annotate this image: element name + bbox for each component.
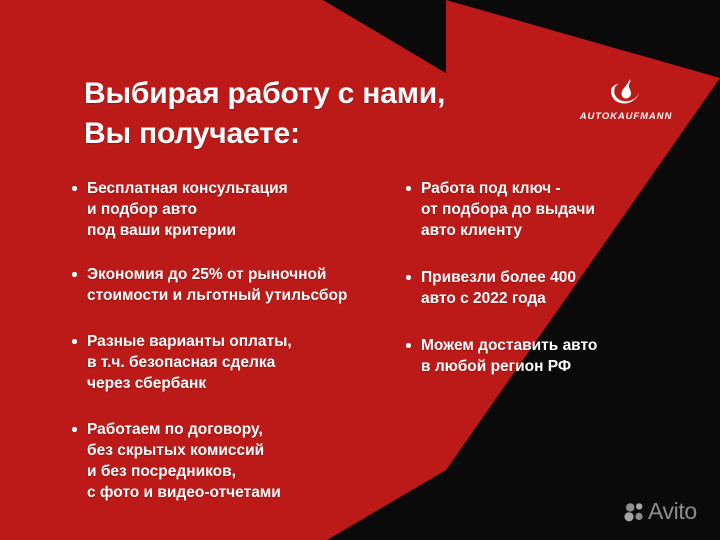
list-item-line: под ваши критерии	[87, 220, 410, 241]
list-item-line: Разные варианты оплаты,	[87, 331, 410, 352]
list-item-line: Работа под ключ -	[421, 178, 704, 199]
brand-name: AUTOKAUFMANN	[578, 111, 674, 122]
list-item-line: Экономия до 25% от рыночной	[87, 264, 410, 285]
page-title: Выбирая работу с нами, Вы получаете:	[84, 74, 554, 154]
benefits-columns: Бесплатная консультация и подбор авто по…	[0, 178, 720, 508]
list-item-line: и подбор авто	[87, 199, 410, 220]
avito-watermark: Avito	[624, 500, 697, 523]
list-item-line: в любой регион РФ	[421, 356, 704, 377]
list-item: Экономия до 25% от рыночной стоимости и …	[70, 264, 410, 306]
bullet-dot-icon	[72, 272, 77, 277]
list-item-line: стоимости и льготный утильсбор	[87, 285, 410, 306]
list-item: Бесплатная консультация и подбор авто по…	[70, 178, 410, 241]
list-item: Можем доставить авто в любой регион РФ	[404, 335, 704, 377]
list-item: Разные варианты оплаты, в т.ч. безопасна…	[70, 331, 410, 394]
list-item-text: Можем доставить авто в любой регион РФ	[421, 335, 704, 377]
list-item-line: от подбора до выдачи	[421, 199, 704, 220]
flame-swoosh-icon	[609, 78, 643, 108]
bullet-dot-icon	[72, 427, 77, 432]
page-title-line-2: Вы получаете:	[84, 114, 554, 154]
list-item: Привезли более 400 авто с 2022 года	[404, 267, 704, 309]
list-item-line: авто клиенту	[421, 220, 704, 241]
bullet-dot-icon	[406, 343, 411, 348]
list-item-line: Привезли более 400	[421, 267, 704, 288]
list-item-text: Работаем по договору, без скрытых комисс…	[87, 419, 410, 503]
list-item-line: через сбербанк	[87, 373, 410, 394]
brand-logo: AUTOKAUFMANN	[578, 78, 674, 122]
bullet-dot-icon	[72, 186, 77, 191]
benefits-column-left: Бесплатная консультация и подбор авто по…	[70, 178, 410, 503]
list-item-line: Можем доставить авто	[421, 335, 704, 356]
list-item-line: и без посредников,	[87, 461, 410, 482]
avito-wordmark: Avito	[648, 500, 697, 523]
promo-banner: Выбирая работу с нами, Вы получаете: AUT…	[0, 0, 720, 540]
bullet-dot-icon	[406, 186, 411, 191]
list-item-line: с фото и видео-отчетами	[87, 482, 410, 503]
avito-dots-icon	[624, 502, 644, 522]
list-item-line: в т.ч. безопасная сделка	[87, 352, 410, 373]
list-item-line: без скрытых комиссий	[87, 440, 410, 461]
list-item-text: Привезли более 400 авто с 2022 года	[421, 267, 704, 309]
bullet-dot-icon	[406, 275, 411, 280]
list-item-line: авто с 2022 года	[421, 288, 704, 309]
list-item-text: Работа под ключ - от подбора до выдачи а…	[421, 178, 704, 241]
benefits-column-right: Работа под ключ - от подбора до выдачи а…	[404, 178, 704, 377]
list-item-text: Экономия до 25% от рыночной стоимости и …	[87, 264, 410, 306]
list-item-line: Работаем по договору,	[87, 419, 410, 440]
list-item-text: Разные варианты оплаты, в т.ч. безопасна…	[87, 331, 410, 394]
page-title-line-1: Выбирая работу с нами,	[84, 74, 554, 114]
list-item-line: Бесплатная консультация	[87, 178, 410, 199]
list-item: Работаем по договору, без скрытых комисс…	[70, 419, 410, 503]
list-item: Работа под ключ - от подбора до выдачи а…	[404, 178, 704, 241]
bullet-dot-icon	[72, 339, 77, 344]
list-item-text: Бесплатная консультация и подбор авто по…	[87, 178, 410, 241]
